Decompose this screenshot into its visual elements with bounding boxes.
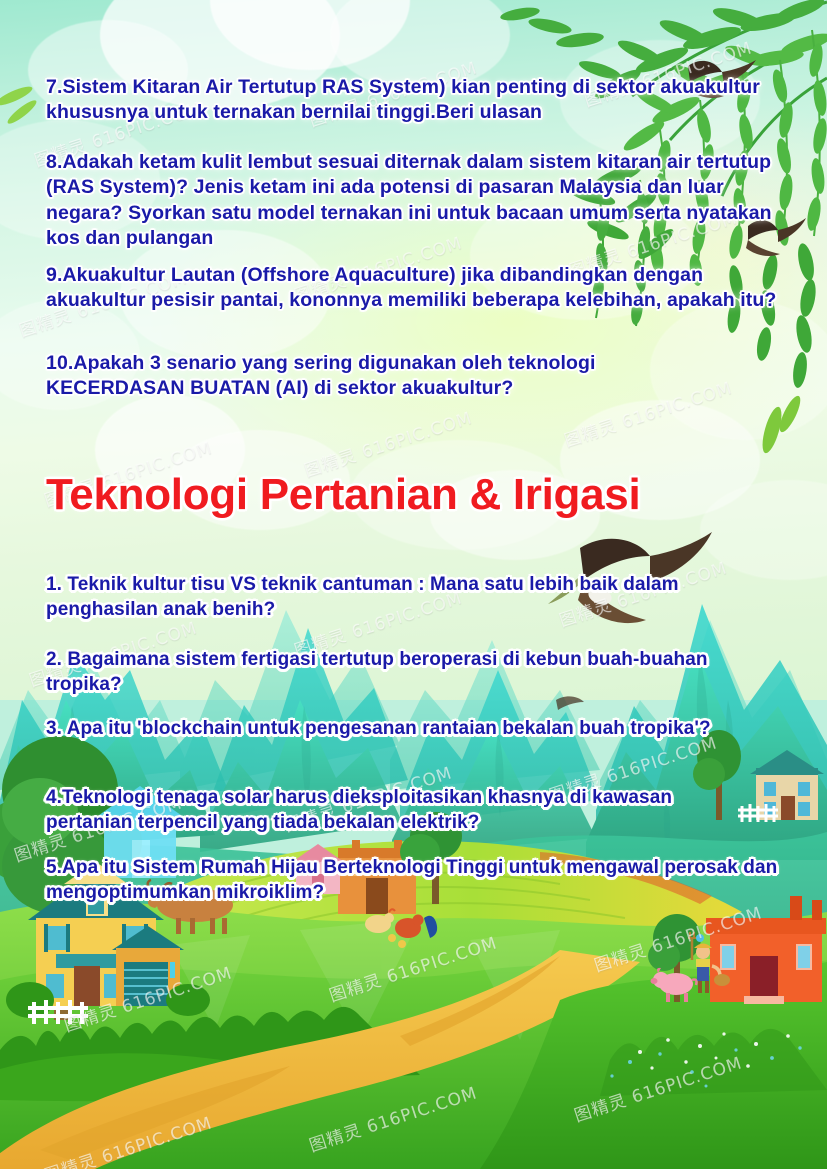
question-3: 3. Apa itu 'blockchain untuk pengesanan … [46, 717, 758, 742]
swallow-bird-small-right [556, 696, 584, 710]
question-10: 10.Apakah 3 senario yang sering digunaka… [46, 351, 666, 402]
question-3-text: 3. Apa itu 'blockchain untuk pengesanan … [46, 717, 758, 742]
question-8-text: 8.Adakah ketam kulit lembut sesuai diter… [46, 150, 788, 251]
question-7: 7.Sistem Kitaran Air Tertutup RAS System… [46, 75, 788, 126]
question-10-text: 10.Apakah 3 senario yang sering digunaka… [46, 351, 666, 402]
question-9-text: 9.Akuakultur Lautan (Offshore Aquacultur… [46, 263, 788, 314]
question-1-text: 1. Teknik kultur tisu VS teknik cantuman… [46, 573, 766, 622]
question-7-text: 7.Sistem Kitaran Air Tertutup RAS System… [46, 75, 788, 126]
question-9: 9.Akuakultur Lautan (Offshore Aquacultur… [46, 263, 788, 314]
question-5: 5.Apa itu Sistem Rumah Hijau Berteknolog… [46, 856, 786, 905]
question-4-text: 4.Teknologi tenaga solar harus dieksploi… [46, 786, 756, 835]
question-4: 4.Teknologi tenaga solar harus dieksploi… [46, 786, 756, 835]
question-5-text: 5.Apa itu Sistem Rumah Hijau Berteknolog… [46, 856, 786, 905]
question-8: 8.Adakah ketam kulit lembut sesuai diter… [46, 150, 788, 251]
poster-canvas: 图精灵 616PIC.COM 图精灵 616PIC.COM 图精灵 616PIC… [0, 0, 827, 1169]
question-2-text: 2. Bagaimana sistem fertigasi tertutup b… [46, 648, 746, 697]
page-title: Teknologi Pertanian & Irigasi [46, 470, 640, 520]
question-2: 2. Bagaimana sistem fertigasi tertutup b… [46, 648, 746, 697]
question-1: 1. Teknik kultur tisu VS teknik cantuman… [46, 573, 766, 622]
